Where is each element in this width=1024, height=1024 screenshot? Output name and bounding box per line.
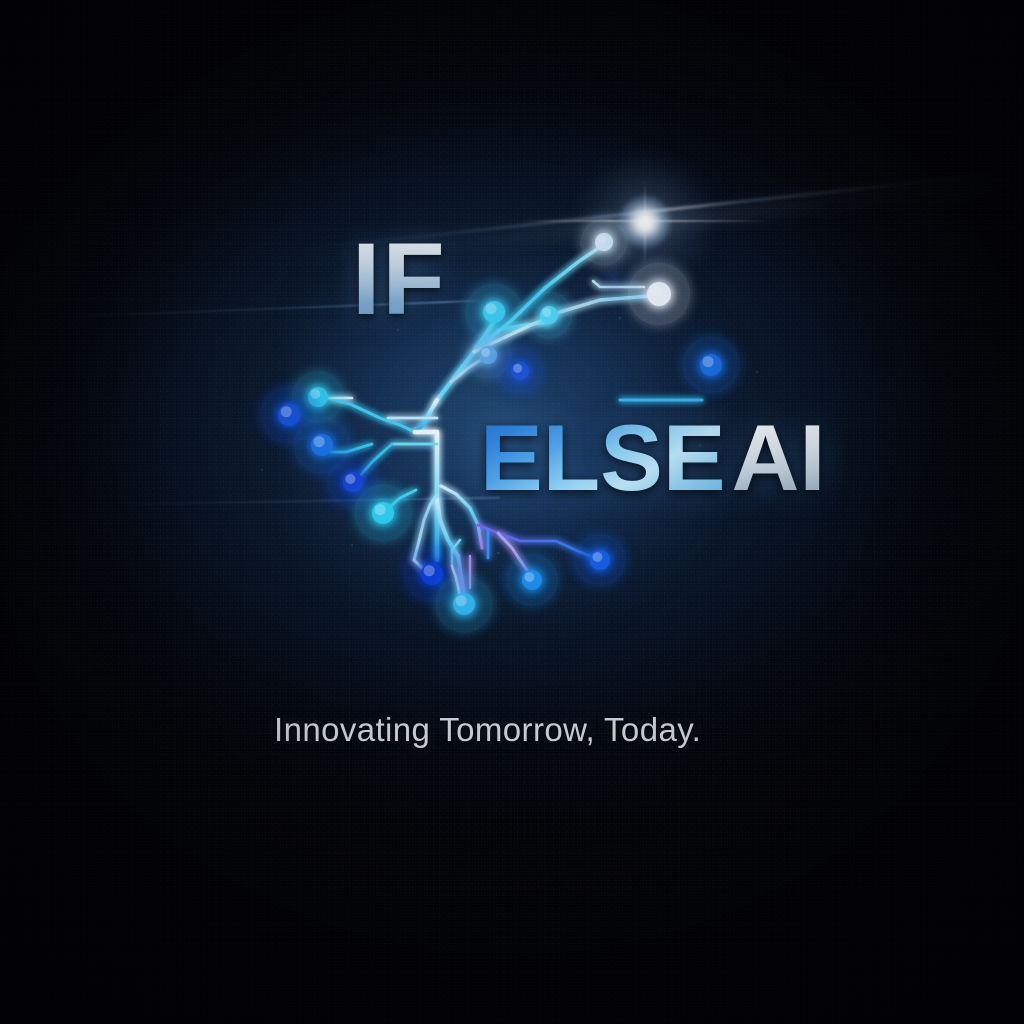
logo-canvas: IF ELSEAI Innovating Tomorrow, Today. bbox=[0, 0, 1024, 1024]
background-vignette bbox=[0, 0, 1024, 1024]
